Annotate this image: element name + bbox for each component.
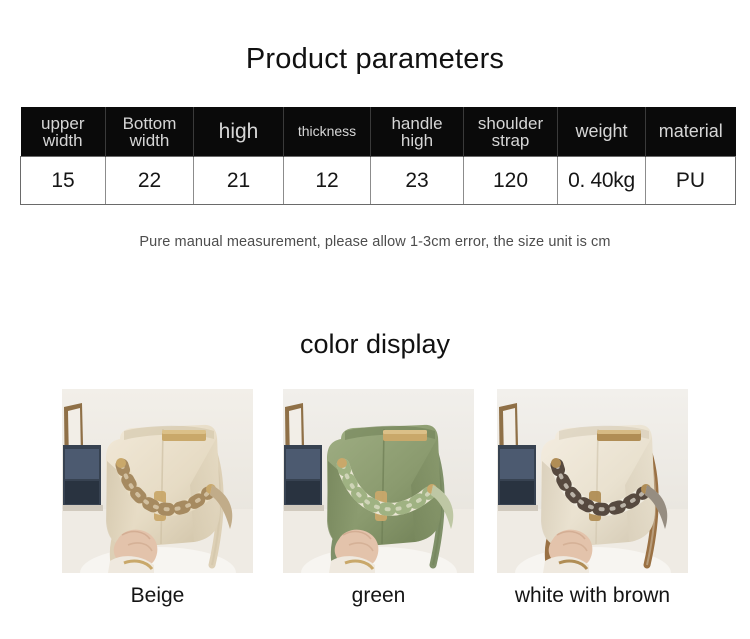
table-data-cell: 22 [106,157,194,205]
color-swatch[interactable]: white with brown [497,389,688,609]
table-data-cell: 0. 40kg [558,157,646,205]
table-data-cell: 23 [371,157,464,205]
table-header-label: thickness [286,123,368,140]
table-header-label: upper [23,115,104,132]
table-header-label: width [23,132,104,149]
table-data-cell: 12 [284,157,371,205]
color-swatch-label: white with brown [497,583,688,609]
product-photo-beige-bag[interactable] [62,389,253,573]
table-header-cell: thickness [284,107,371,157]
table-header-cell: shoulderstrap [464,107,558,157]
table-header-cell: high [194,107,284,157]
table-header-cell: weight [558,107,646,157]
product-photo-svg [497,389,688,573]
table-header-label: width [108,132,191,149]
table-header-label: weight [560,123,643,140]
product-parameters-table: upperwidthBottomwidthhighthicknesshandle… [20,107,736,205]
color-swatch-label: green [283,583,474,609]
color-swatch-row: Beige [62,389,688,639]
table-data-cell: PU [646,157,736,205]
color-display-title: color display [0,328,750,360]
table-header-cell: handlehigh [371,107,464,157]
measurement-note: Pure manual measurement, please allow 1-… [0,234,750,250]
color-swatch[interactable]: green [283,389,474,609]
table-header-label: material [648,123,734,140]
table-header-label: Bottom [108,115,191,132]
table-header-cell: Bottomwidth [106,107,194,157]
table-header-label: shoulder [466,115,555,132]
table-row: 15222112231200. 40kgPU [21,157,736,205]
table-data-cell: 15 [21,157,106,205]
table-data-cell: 21 [194,157,284,205]
table-data-cell: 120 [464,157,558,205]
product-photo-svg [283,389,474,573]
table-header-label: handle [373,115,461,132]
page-title: Product parameters [0,42,750,76]
color-swatch-label: Beige [62,583,253,609]
color-swatch[interactable]: Beige [62,389,253,609]
table-header: upperwidthBottomwidthhighthicknesshandle… [21,107,736,157]
table-header-label: high [373,132,461,149]
table-header-cell: upperwidth [21,107,106,157]
table-header-cell: material [646,107,736,157]
table-header-label: strap [466,132,555,149]
product-photo-svg [62,389,253,573]
table-body: 15222112231200. 40kgPU [21,157,736,205]
product-photo-white-brown-bag[interactable] [497,389,688,573]
product-photo-green-bag[interactable] [283,389,474,573]
table-header-label: high [196,123,281,140]
table-header-row: upperwidthBottomwidthhighthicknesshandle… [21,107,736,157]
